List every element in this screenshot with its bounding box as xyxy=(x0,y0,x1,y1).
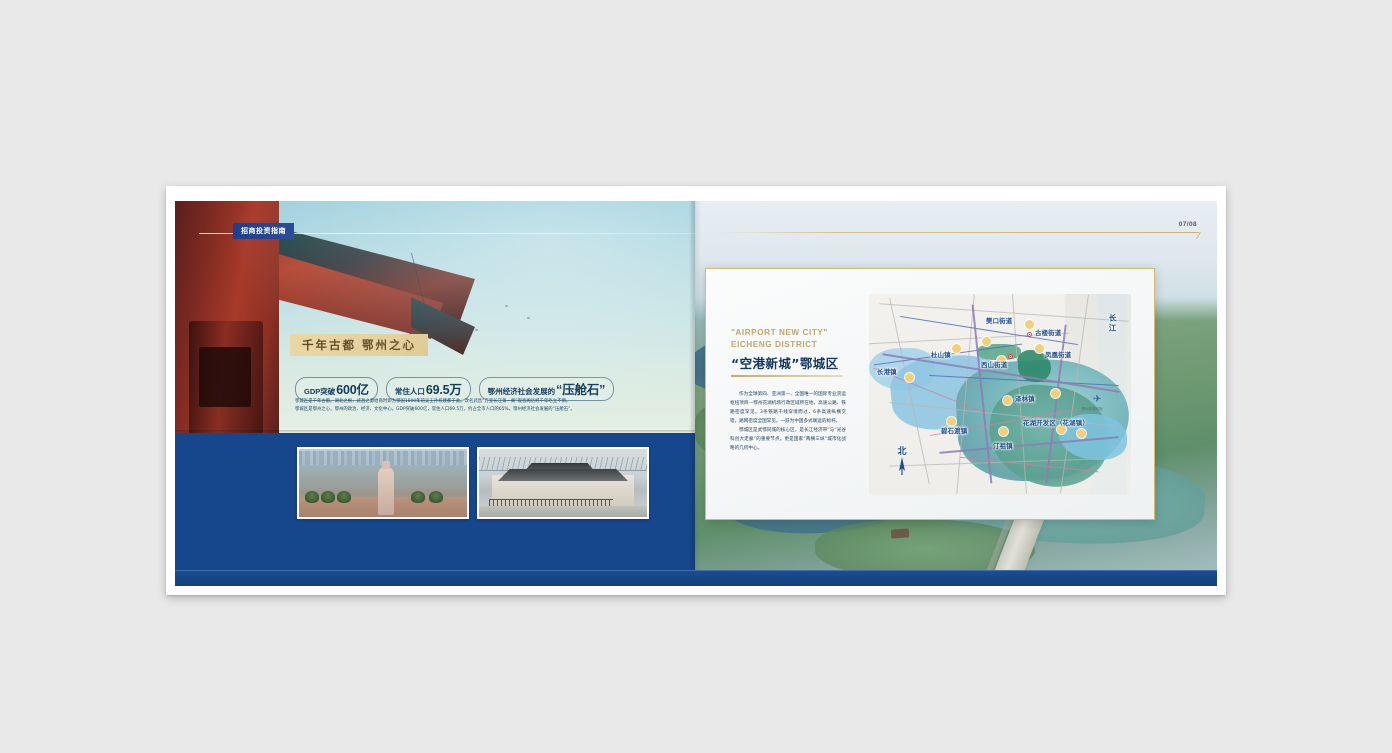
stat-pill-ballast: 鄂州经济社会发展的 “压舱石” xyxy=(479,377,615,401)
header-gold-rule xyxy=(717,232,1199,233)
map-town-dot-east[interactable] xyxy=(1051,389,1060,398)
shrub xyxy=(337,491,351,503)
hero-photo-temple-eave: 招商投资指南 千年古都 鄂州之心 GDP突破 600亿 常住人口 69.5万 鄂… xyxy=(175,201,695,433)
temple-bell xyxy=(409,331,420,347)
shrub xyxy=(429,491,443,503)
section-eyebrow-line-1: "AIRPORT NEW CITY" xyxy=(731,327,828,339)
aerial-small-building xyxy=(891,528,910,538)
map-label-fankou: 樊口街道 xyxy=(986,316,1012,325)
map-label-tingzu: 汀祖镇 xyxy=(993,441,1013,450)
section-eyebrow-line-2: EICHENG DISTRICT xyxy=(731,339,828,351)
map-town-dot-zelin[interactable] xyxy=(1003,396,1012,405)
brochure-spread-inner: 招商投资指南 千年古都 鄂州之心 GDP突破 600亿 常住人口 69.5万 鄂… xyxy=(175,201,1217,586)
map-city-marker xyxy=(1027,332,1032,337)
map-town-dot-tingzu[interactable] xyxy=(999,427,1008,436)
shrub xyxy=(305,491,319,503)
hero-title-banner: 千年古都 鄂州之心 xyxy=(290,334,428,356)
temple-eave-wire xyxy=(411,253,426,310)
hero-body-text: 鄂城区是千年古都。湖北之根，武昌之源始商时即为鄂国1800年前吴王孙权建都于此。… xyxy=(295,398,630,414)
section-eyebrow: "AIRPORT NEW CITY" EICHENG DISTRICT xyxy=(731,327,828,351)
map-label-dushan: 杜山镇 xyxy=(931,350,951,359)
stat-pill-group: GDP突破 600亿 常住人口 69.5万 鄂州经济社会发展的 “压舱石” xyxy=(295,377,614,401)
right-page: 07/08 "AIRPORT NEW CITY" EICHENG DISTRIC… xyxy=(695,201,1217,586)
bird-speck xyxy=(527,317,530,319)
temple-ground xyxy=(479,506,647,517)
map-label-yangtze: 长江 xyxy=(1107,314,1118,333)
section-paragraph-1: 作为全球第四、亚洲第一、全国唯一的国际专业货运枢纽项目—鄂州花湖机场行政区域所在… xyxy=(730,391,846,427)
temple-roof-shape-secondary xyxy=(175,223,443,343)
photo-card-statue-riverside xyxy=(297,447,469,519)
section-paragraph-2: 鄂城区是武鄂同城的核心区，是长江经济带”与“光谷科创大走廊”的重要节点。更是国家… xyxy=(730,427,846,454)
map-north-label: 北 xyxy=(891,444,913,457)
ancient-temple-image xyxy=(479,449,647,517)
map-label-fenghuang: 凤凰街道 xyxy=(1045,350,1071,359)
temple-pillar xyxy=(175,201,279,433)
stat-pill-population-prefix: 常住人口 xyxy=(395,386,425,397)
page-number: 07/08 xyxy=(1179,221,1197,228)
brochure-badge: 招商投资指南 xyxy=(233,223,294,239)
stat-pill-gdp: GDP突破 600亿 xyxy=(295,377,378,401)
map-label-changgang: 长港镇 xyxy=(877,367,897,376)
airport-icon: ✈ xyxy=(1093,394,1101,405)
compass-needle-icon xyxy=(897,457,907,475)
stat-pill-gdp-prefix: GDP突破 xyxy=(304,386,335,397)
bird-speck xyxy=(505,305,508,307)
header-divider-line xyxy=(199,233,695,234)
stat-pill-ballast-value: “压舱石” xyxy=(556,379,605,398)
map-town-dot-fenghuang[interactable] xyxy=(1035,344,1044,353)
temple-eave-tip xyxy=(411,297,475,355)
map-label-zelin: 泽林镇 xyxy=(1015,394,1035,403)
band-highlight xyxy=(175,570,1217,571)
left-page-blue-panel xyxy=(175,433,695,586)
section-heading-rule xyxy=(731,375,843,377)
shrub xyxy=(321,491,335,503)
shrub xyxy=(411,491,425,503)
airport-caption: 鄂州花湖机场 xyxy=(1082,406,1102,411)
statue-figure xyxy=(378,467,394,515)
map-label-huahu: 花湖开发区（花湖镇） xyxy=(1023,418,1089,427)
hero-body-line-1: 鄂城区是千年古都。湖北之根，武昌之源始商时即为鄂国1800年前吴王孙权建都于此。… xyxy=(295,398,630,406)
map-town-dot-gulou[interactable] xyxy=(1025,320,1034,329)
content-card: "AIRPORT NEW CITY" EICHENG DISTRICT “空港新… xyxy=(705,268,1155,520)
map-town-dot-changgang[interactable] xyxy=(905,373,914,382)
bird-speck xyxy=(475,329,478,331)
left-page: 招商投资指南 千年古都 鄂州之心 GDP突破 600亿 常住人口 69.5万 鄂… xyxy=(175,201,695,586)
temple-roof-shape xyxy=(175,201,475,321)
map-label-bishidu: 碧石渡镇 xyxy=(941,426,967,435)
map-label-xishan: 西山街道 xyxy=(981,360,1007,369)
section-body-text: 作为全球第四、亚洲第一、全国唯一的国际专业货运枢纽项目—鄂州花湖机场行政区域所在… xyxy=(730,391,846,454)
map-label-gulou: 古楼街道 xyxy=(1035,328,1061,337)
spread-bottom-band xyxy=(175,570,1217,586)
brochure-spread-frame: 招商投资指南 千年古都 鄂州之心 GDP突破 600亿 常住人口 69.5万 鄂… xyxy=(166,186,1226,595)
map-town-dot-bishidu[interactable] xyxy=(947,417,956,426)
stat-pill-population-value: 69.5万 xyxy=(426,379,462,398)
map-town-dot-dushan[interactable] xyxy=(952,344,961,353)
district-map[interactable]: 樊口街道 古楼街道 凤凰街道 西山街道 杜山镇 长港镇 泽林镇 花湖开发区（花湖… xyxy=(869,294,1131,495)
hero-body-line-2: 鄂城区是鄂州之心。鄂州的政治、经济、文化中心。GDP突破600亿，常住人口69.… xyxy=(295,406,630,414)
map-town-dot-fankou[interactable] xyxy=(982,337,991,346)
photo-card-ancient-temple xyxy=(477,447,649,519)
map-town-dot-huahu-east[interactable] xyxy=(1077,429,1086,438)
stat-pill-gdp-value: 600亿 xyxy=(336,379,369,398)
stat-pill-ballast-prefix: 鄂州经济社会发展的 xyxy=(488,386,556,397)
stat-pill-population: 常住人口 69.5万 xyxy=(386,377,471,401)
statue-riverside-image xyxy=(299,449,467,517)
map-city-marker xyxy=(1008,354,1013,359)
temple-main-roof xyxy=(489,469,637,481)
section-heading: “空港新城”鄂城区 xyxy=(731,353,839,372)
